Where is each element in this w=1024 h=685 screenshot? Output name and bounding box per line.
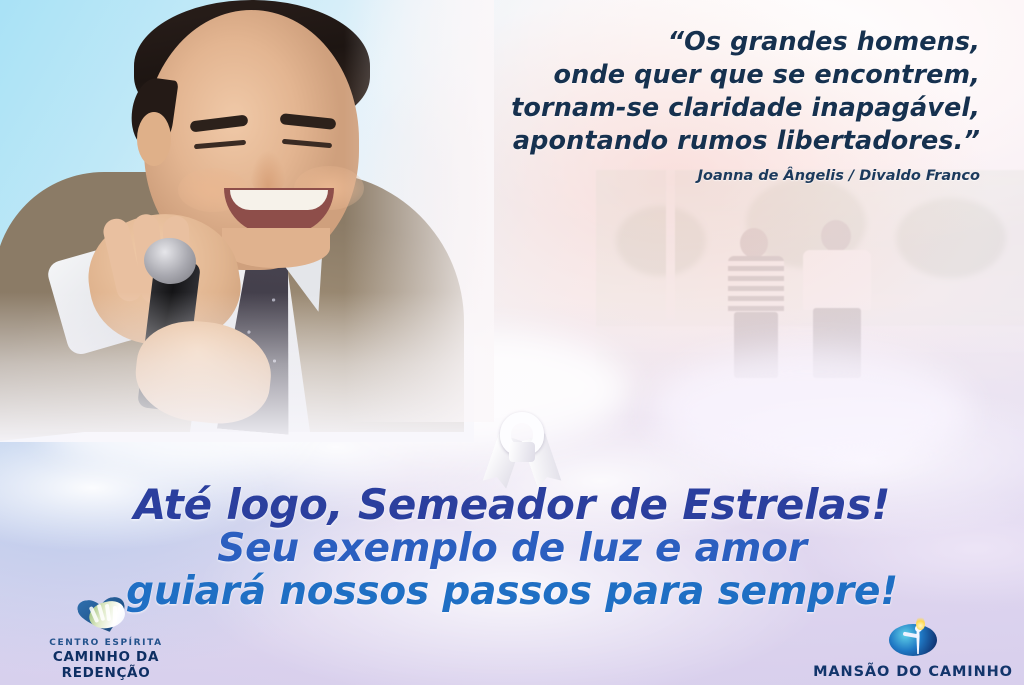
memorial-poster: “Os grandes homens, onde quer que se enc… [0, 0, 1024, 685]
cloud-puff [650, 350, 970, 470]
quote-line-3: tornam-se claridade inapagável, [420, 92, 980, 125]
logo-mansao-do-caminho: MANSÃO DO CAMINHO [808, 620, 1018, 681]
white-ribbon-icon [487, 412, 557, 486]
logo-right-line-1: MANSÃO DO CAMINHO [808, 663, 1018, 681]
chin [222, 228, 330, 268]
ribbon-crossover [509, 442, 535, 462]
quote-line-4: apontando rumos libertadores.” [420, 125, 980, 158]
heart-with-hands-icon [77, 598, 135, 634]
logo-centro-espirita: CENTRO ESPÍRITA CAMINHO DA REDENÇÃO [6, 598, 206, 681]
ear [137, 112, 171, 166]
headline-line-2: Seu exemplo de luz e amor [0, 527, 1024, 570]
logo-left-line-1: CENTRO ESPÍRITA [6, 637, 206, 649]
headline-block: Até logo, Semeador de Estrelas! Seu exem… [0, 482, 1024, 613]
quote-attribution: Joanna de Ângelis / Divaldo Franco [420, 168, 980, 184]
portrait-photo [0, 0, 464, 432]
quote-line-2: onde quer que se encontrem, [420, 59, 980, 92]
headline-line-1: Até logo, Semeador de Estrelas! [0, 482, 1024, 527]
quote-line-1: “Os grandes homens, [420, 26, 980, 59]
globe-with-figure-icon [889, 620, 937, 660]
quote-text: “Os grandes homens, onde quer que se enc… [420, 26, 980, 158]
logo-left-line-2: CAMINHO DA REDENÇÃO [6, 649, 206, 681]
